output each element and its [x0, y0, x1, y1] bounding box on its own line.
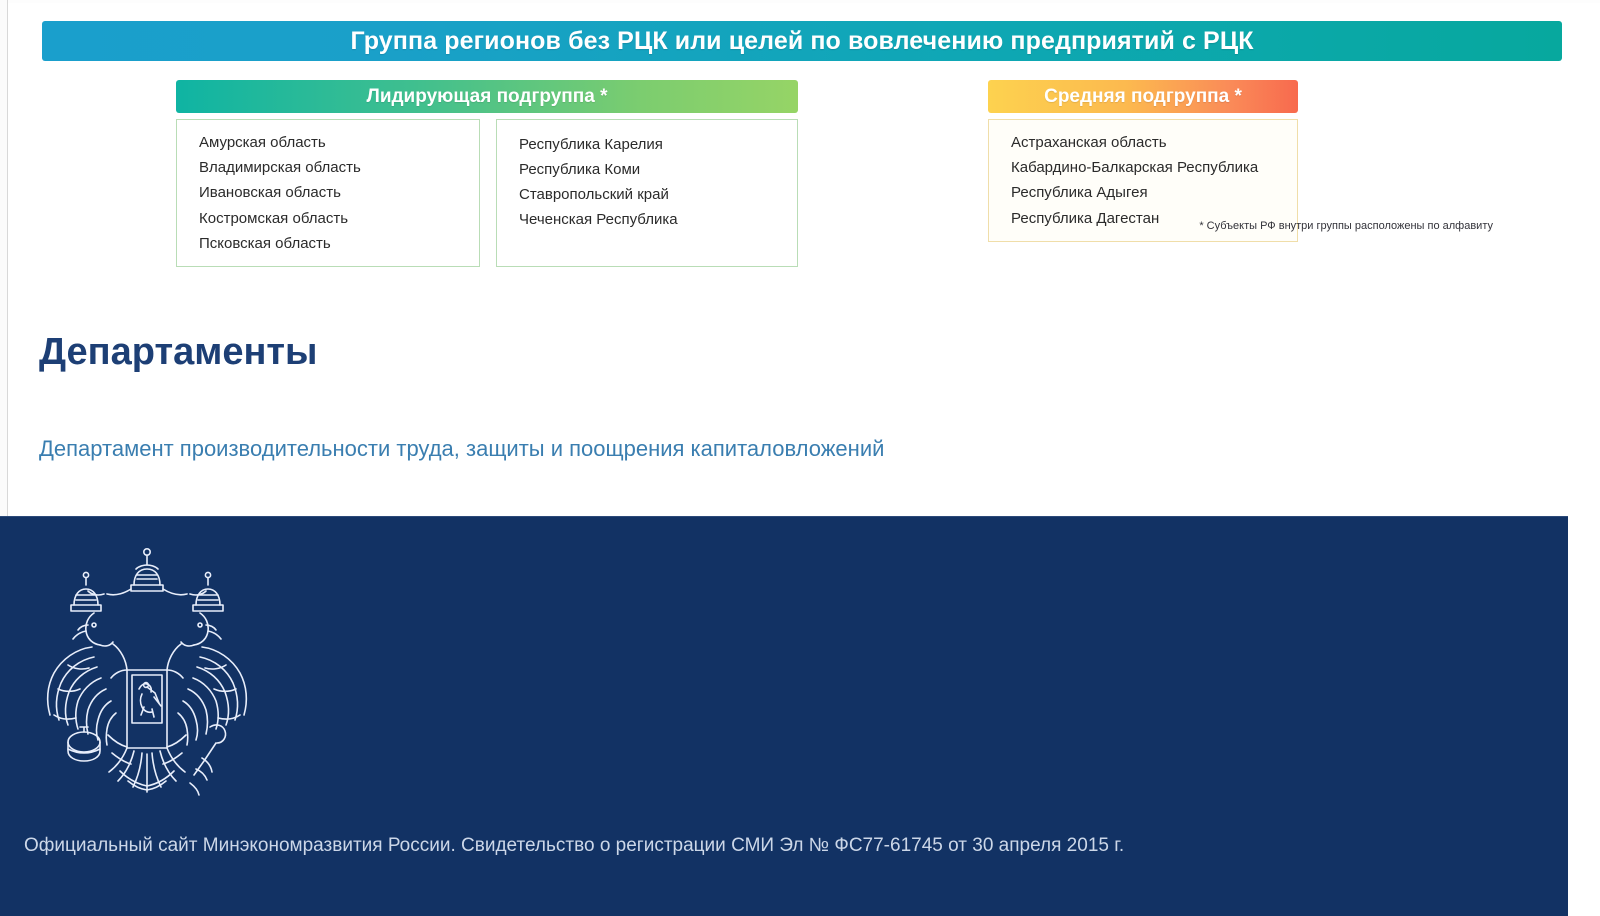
region-list: Республика Карелия Республика Коми Ставр… [519, 133, 783, 233]
footer-right-margin [1568, 516, 1600, 916]
region-list-item: Ставропольский край [519, 183, 783, 208]
alphabetical-order-footnote: * Субъекты РФ внутри группы расположены … [988, 220, 1493, 232]
region-list-box: Амурская область Владимирская область Ив… [176, 119, 480, 267]
subgroup-leading-header: Лидирующая подгруппа * [176, 80, 798, 113]
region-group-infographic: Группа регионов без РЦК или целей по вов… [0, 0, 1600, 250]
russian-coat-of-arms-icon [24, 539, 270, 807]
footer-legal-text: Официальный сайт Минэкономразвития Росси… [24, 835, 1124, 857]
region-list-item: Владимирская область [199, 155, 465, 180]
subgroup-middle: Средняя подгруппа * Астраханская область… [988, 80, 1298, 242]
region-list-item: Ивановская область [199, 180, 465, 205]
region-list-item: Амурская область [199, 130, 465, 155]
region-list-item: Кабардино-Балкарская Республика [1011, 155, 1283, 180]
region-list-item: Республика Адыгея [1011, 180, 1283, 205]
subgroup-middle-header: Средняя подгруппа * [988, 80, 1298, 113]
region-list: Астраханская область Кабардино-Балкарска… [1011, 130, 1283, 231]
subgroup-leading-columns: Амурская область Владимирская область Ив… [176, 119, 798, 267]
region-list: Амурская область Владимирская область Ив… [199, 130, 465, 256]
region-list-box: Республика Карелия Республика Коми Ставр… [496, 119, 798, 267]
region-list-item: Костромская область [199, 206, 465, 231]
region-list-item: Астраханская область [1011, 130, 1283, 155]
site-footer: Официальный сайт Минэкономразвития Росси… [0, 516, 1568, 916]
region-list-item: Чеченская Республика [519, 208, 783, 233]
department-link[interactable]: Департамент производительности труда, за… [39, 436, 884, 462]
departments-heading: Департаменты [0, 330, 1600, 376]
region-list-item: Республика Карелия [519, 133, 783, 158]
subgroup-leading: Лидирующая подгруппа * Амурская область … [176, 80, 798, 267]
region-list-item: Республика Коми [519, 158, 783, 183]
page-root: Группа регионов без РЦК или целей по вов… [0, 0, 1600, 916]
region-list-item: Псковская область [199, 231, 465, 256]
group-banner-title: Группа регионов без РЦК или целей по вов… [42, 21, 1562, 61]
departments-section: Департаменты Департамент производительно… [0, 330, 1600, 462]
